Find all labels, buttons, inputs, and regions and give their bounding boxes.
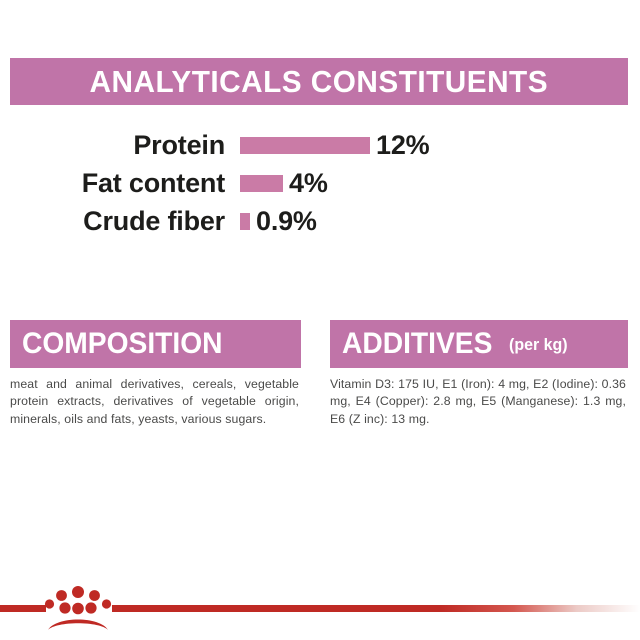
constituent-value-protein: 12% <box>376 132 429 159</box>
analyticals-constituents-title: ANALYTICALS CONSTITUENTS <box>90 66 548 97</box>
additives-section: ADDITIVES (per kg) Vitamin D3: 175 IU, E… <box>330 320 628 428</box>
constituent-row-protein: Protein 12% <box>0 126 480 164</box>
constituent-label-crude-fiber: Crude fiber <box>0 208 225 235</box>
analyticals-constituents-banner: ANALYTICALS CONSTITUENTS <box>10 58 628 105</box>
composition-section: COMPOSITION meat and animal derivatives,… <box>10 320 301 428</box>
additives-body-text: Vitamin D3: 175 IU, E1 (Iron): 4 mg, E2 … <box>330 376 628 428</box>
constituent-value-fat-content: 4% <box>289 170 328 197</box>
constituent-bar-crude-fiber <box>240 213 250 230</box>
constituent-row-crude-fiber: Crude fiber 0.9% <box>0 202 480 240</box>
brand-rule-right <box>112 605 640 612</box>
composition-band: COMPOSITION <box>10 320 301 368</box>
additives-band: ADDITIVES (per kg) <box>330 320 628 368</box>
additives-subtitle: (per kg) <box>509 336 568 353</box>
constituent-bar-fat-content <box>240 175 283 192</box>
constituent-label-fat-content: Fat content <box>0 170 225 197</box>
royal-canin-crown-icon <box>44 580 112 636</box>
brand-footer <box>0 580 640 640</box>
composition-body-text: meat and animal derivatives, cereals, ve… <box>10 376 301 428</box>
constituent-bar-group-crude-fiber: 0.9% <box>240 208 317 235</box>
constituent-label-protein: Protein <box>0 132 225 159</box>
additives-title: ADDITIVES <box>342 329 492 359</box>
constituent-bar-group-fat-content: 4% <box>240 170 328 197</box>
nutrition-panel: ANALYTICALS CONSTITUENTS Protein 12% Fat… <box>0 0 640 640</box>
constituent-bar-protein <box>240 137 370 154</box>
constituent-value-crude-fiber: 0.9% <box>256 208 317 235</box>
constituents-chart: Protein 12% Fat content 4% Crude fiber 0… <box>0 126 480 240</box>
constituent-row-fat-content: Fat content 4% <box>0 164 480 202</box>
brand-rule-left <box>0 605 46 612</box>
composition-title: COMPOSITION <box>22 329 223 359</box>
constituent-bar-group-protein: 12% <box>240 132 429 159</box>
